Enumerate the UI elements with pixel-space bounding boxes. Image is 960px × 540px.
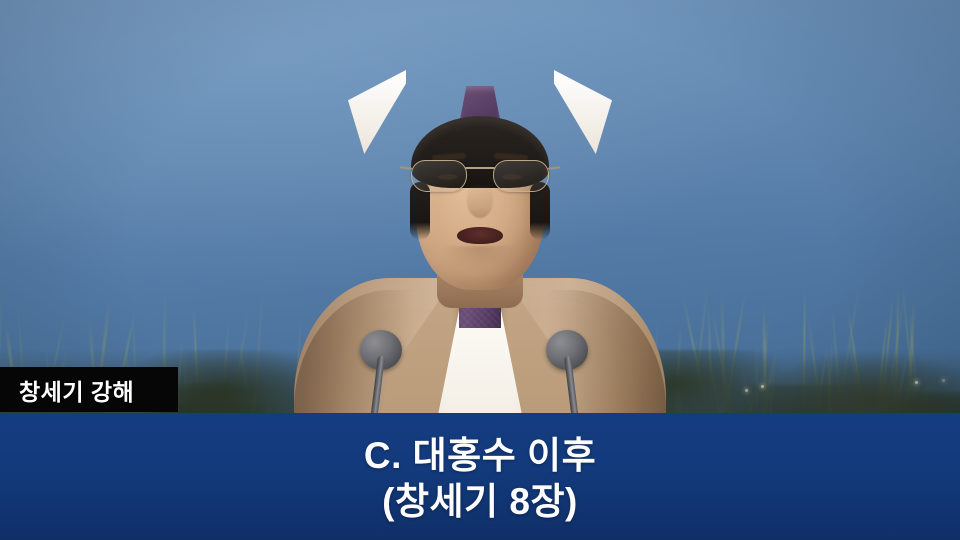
title-line-secondary: (창세기 8장) [382,482,578,522]
title-band: C. 대홍수 이후 (창세기 8장) [0,413,960,540]
title-line-primary: C. 대홍수 이후 [364,436,596,476]
program-label-bar: 창세기 강해 [0,367,178,412]
video-frame: 창세기 강해 C. 대홍수 이후 (창세기 8장) [0,0,960,540]
program-label-text: 창세기 강해 [0,373,134,407]
